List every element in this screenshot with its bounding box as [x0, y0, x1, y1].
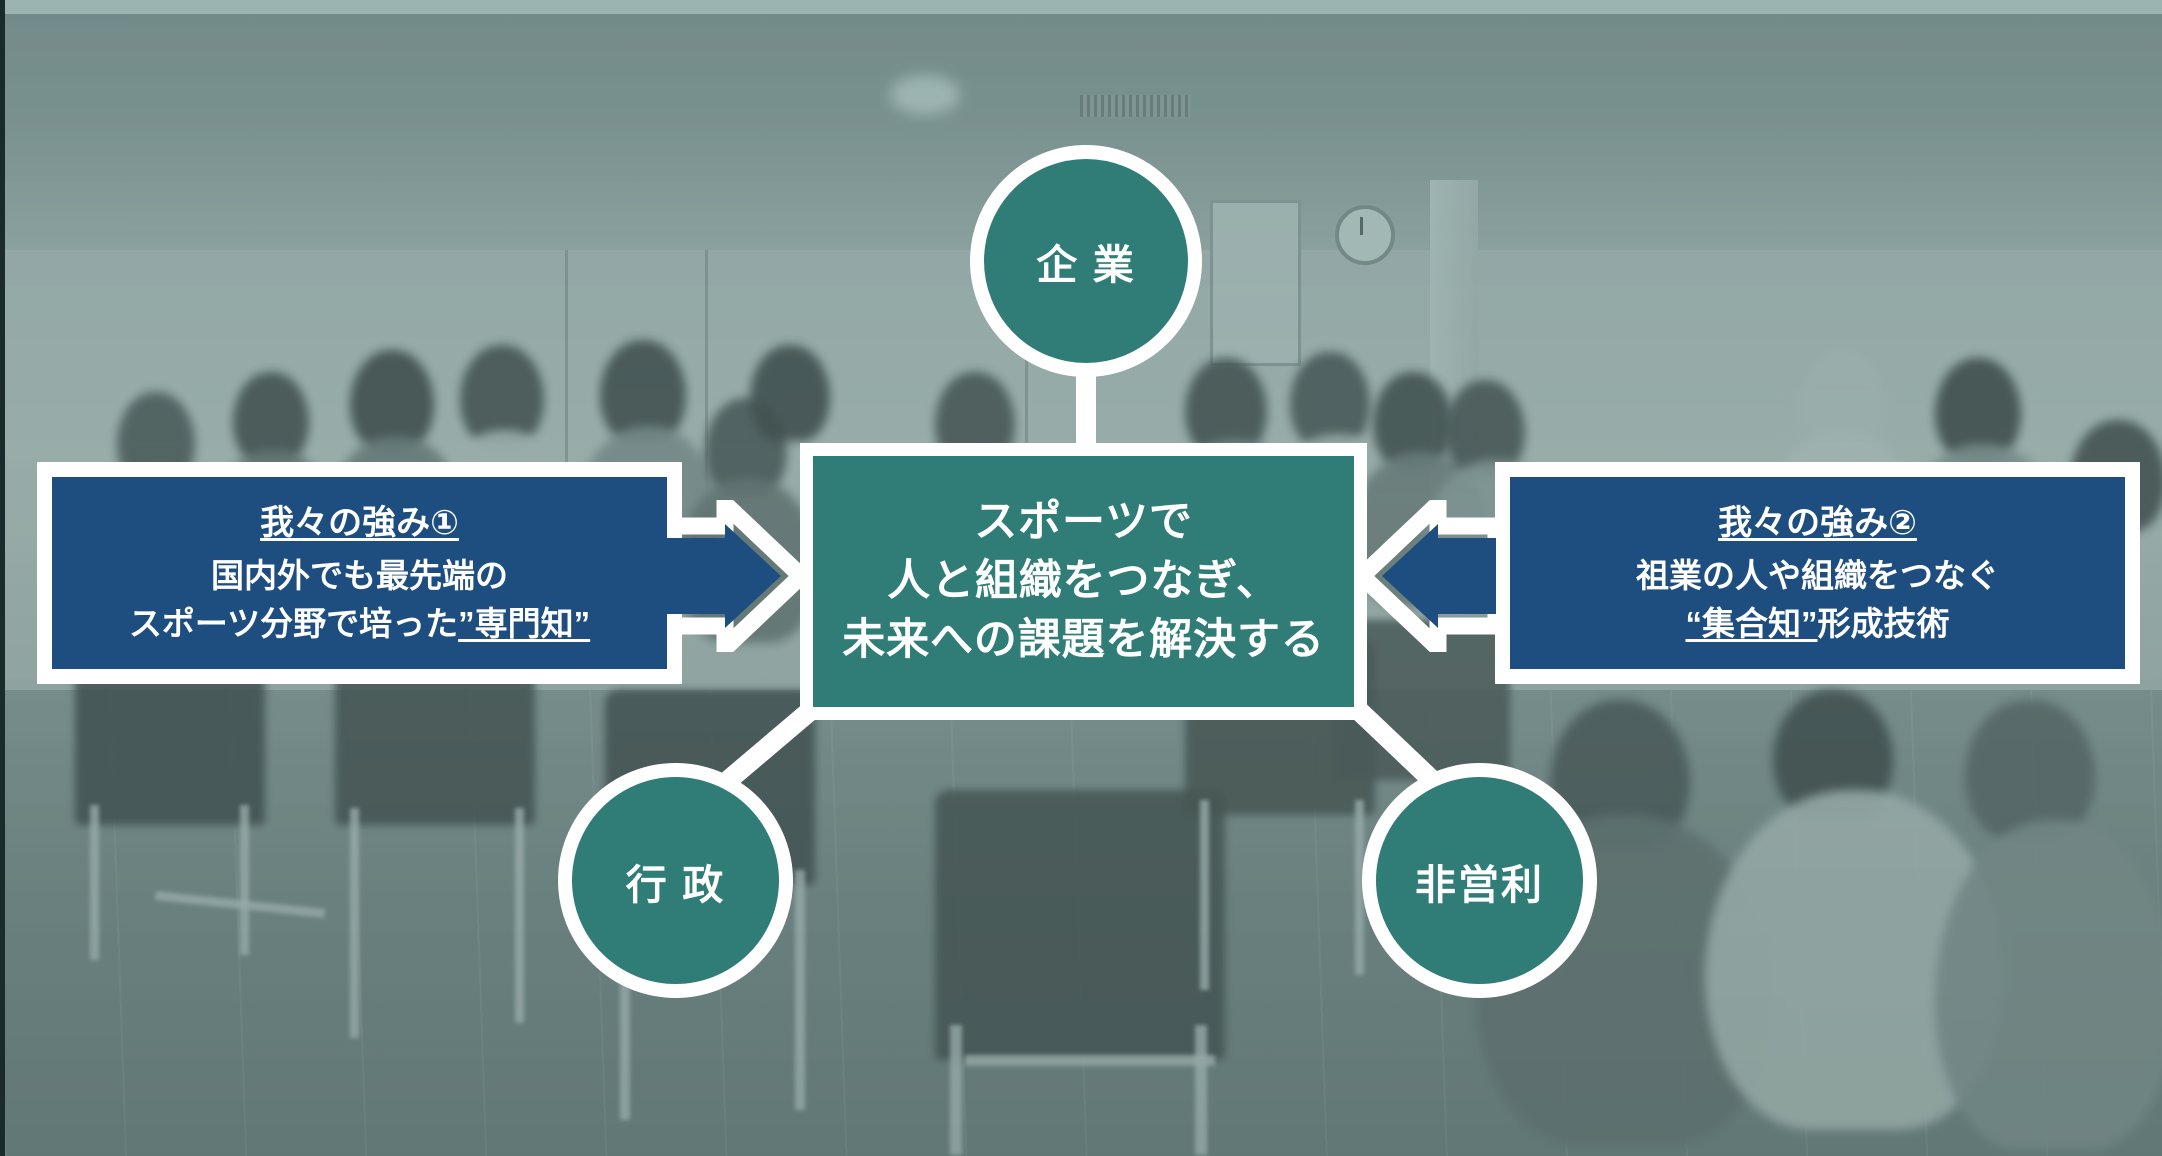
arrow-left-to-center: [667, 500, 803, 652]
arrow-right-to-center: [1360, 500, 1496, 652]
mission-line-2: 人と組織をつなぎ、: [887, 552, 1280, 611]
strength-right-line2: 祖業の人や組織をつなぐ: [1636, 552, 1999, 600]
strength-right-line3: “集合知”形成技術: [1686, 600, 1950, 648]
strength-left-heading: 我々の強み①: [260, 499, 459, 548]
strength-left-line2: 国内外でも最先端の: [211, 552, 508, 600]
strength-left-line3: スポーツ分野で培った”専門知”: [129, 600, 590, 648]
mission-line-1: スポーツで: [974, 493, 1192, 552]
slide-canvas: 我々の強み① 国内外でも最先端の スポーツ分野で培った”専門知” スポーツで 人…: [0, 0, 2162, 1156]
stakeholder-circle-government[interactable]: 行 政: [558, 763, 793, 998]
strength-left-line3-pre: スポーツ分野で培った: [129, 605, 458, 642]
strength-right-line3-post: 形成技術: [1818, 605, 1950, 642]
stakeholder-circle-nonprofit[interactable]: 非営利: [1362, 763, 1597, 998]
stakeholder-label-corporate: 企 業: [1036, 231, 1136, 291]
diagram-layer: 我々の強み① 国内外でも最先端の スポーツ分野で培った”専門知” スポーツで 人…: [5, 0, 2162, 1156]
strength-right-heading: 我々の強み②: [1718, 499, 1917, 548]
strength-right-line3-quoted: “集合知”: [1686, 605, 1818, 642]
stakeholder-label-government: 行 政: [626, 851, 726, 911]
stakeholder-label-nonprofit: 非営利: [1415, 851, 1544, 911]
strength-box-left[interactable]: 我々の強み① 国内外でも最先端の スポーツ分野で培った”専門知”: [37, 462, 682, 684]
strength-box-right[interactable]: 我々の強み② 祖業の人や組織をつなぐ “集合知”形成技術: [1495, 462, 2140, 684]
center-mission-box[interactable]: スポーツで 人と組織をつなぎ、 未来への課題を解決する: [800, 443, 1367, 720]
mission-line-3: 未来への課題を解決する: [842, 611, 1324, 670]
strength-left-line3-quoted: ”専門知”: [458, 605, 590, 642]
stakeholder-circle-corporate[interactable]: 企 業: [970, 145, 1202, 377]
